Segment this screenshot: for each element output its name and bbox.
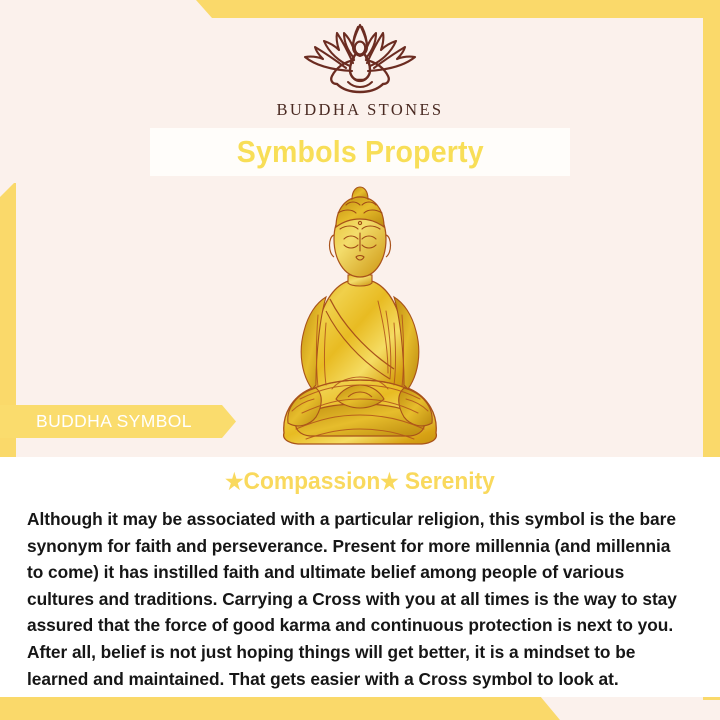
star-icon-2: ★ [380, 469, 398, 494]
brand-logo: BUDDHA STONES [0, 22, 720, 120]
page-title: Symbols Property [236, 134, 483, 170]
title-band: Symbols Property [150, 128, 570, 176]
golden-seated-buddha-statue [272, 183, 448, 446]
ribbon-label: BUDDHA SYMBOL [36, 411, 192, 432]
attribute-compassion: Compassion [244, 468, 381, 495]
top-yellow-band [0, 0, 720, 18]
poster-canvas: BUDDHA STONES Symbols Property [0, 0, 720, 720]
buddha-symbol-ribbon: BUDDHA SYMBOL [0, 405, 236, 438]
attribute-serenity: Serenity [405, 468, 495, 495]
description-text: Although it may be associated with a par… [27, 506, 683, 692]
lotus-meditation-figure-icon [294, 22, 426, 94]
attributes-headline: ★Compassion★ Serenity [25, 469, 695, 496]
star-icon-1: ★ [225, 469, 243, 494]
brand-name: BUDDHA STONES [276, 100, 443, 120]
description-card: ★Compassion★ Serenity Although it may be… [0, 457, 720, 697]
bottom-yellow-band [0, 696, 560, 720]
